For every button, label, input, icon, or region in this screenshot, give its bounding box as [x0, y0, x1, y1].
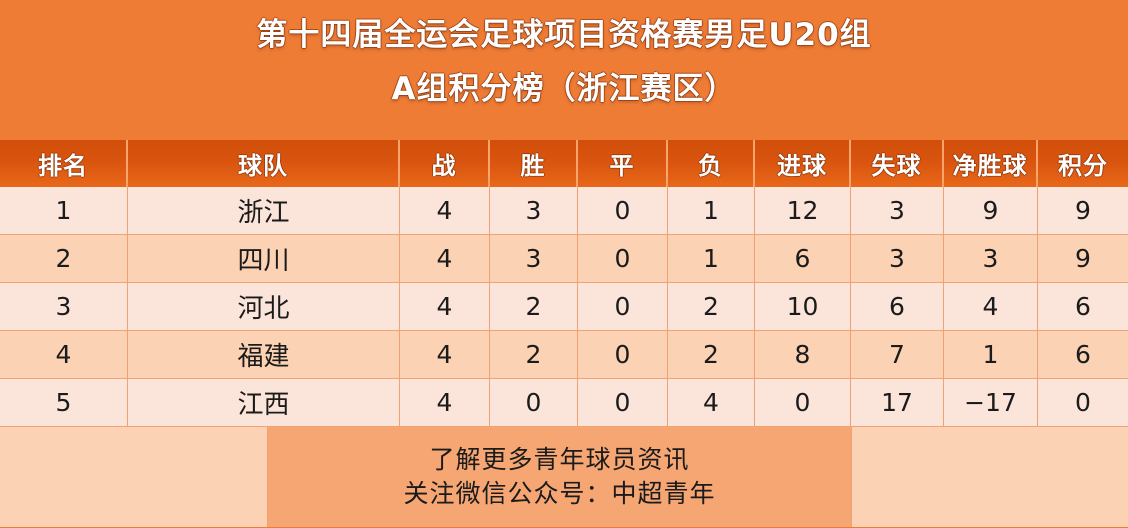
promo-line-1: 了解更多青年球员资讯 [429, 443, 689, 477]
cell-played: 4 [400, 331, 490, 379]
standings-table: 排名 球队 战 胜 平 负 进球 失球 净胜球 积分 1 浙江 4 3 0 1 … [0, 140, 1128, 528]
cell-goals-for: 0 [755, 379, 851, 427]
cell-draw: 0 [578, 283, 668, 331]
column-header-rank: 排名 [0, 140, 128, 187]
title-banner: 第十四届全运会足球项目资格赛男足U20组 A组积分榜（浙江赛区） [0, 0, 1128, 140]
cell-goal-diff: −17 [944, 379, 1038, 427]
cell-points: 6 [1038, 331, 1128, 379]
cell-points: 0 [1038, 379, 1128, 427]
cell-rank: 5 [0, 379, 128, 427]
cell-goals-against: 17 [851, 379, 944, 427]
cell-goal-diff: 3 [944, 235, 1038, 283]
cell-win: 3 [490, 187, 578, 235]
column-header-goal-diff: 净胜球 [944, 140, 1038, 187]
cell-draw: 0 [578, 235, 668, 283]
cell-played: 4 [400, 187, 490, 235]
cell-points: 9 [1038, 235, 1128, 283]
cell-points: 9 [1038, 187, 1128, 235]
cell-draw: 0 [578, 379, 668, 427]
cell-goals-for: 12 [755, 187, 851, 235]
cell-played: 4 [400, 379, 490, 427]
table-row: 4 福建 4 2 0 2 8 7 1 6 [0, 331, 1128, 379]
cell-rank: 4 [0, 331, 128, 379]
cell-team: 四川 [128, 235, 400, 283]
promo-line-2: 关注微信公众号：中超青年 [403, 477, 715, 511]
cell-draw: 0 [578, 331, 668, 379]
cell-goals-for: 6 [755, 235, 851, 283]
cell-played: 4 [400, 235, 490, 283]
cell-goal-diff: 1 [944, 331, 1038, 379]
cell-played: 4 [400, 283, 490, 331]
promo-banner: 了解更多青年球员资讯 关注微信公众号：中超青年 [268, 427, 851, 527]
cell-draw: 0 [578, 187, 668, 235]
standings-graphic: 第十四届全运会足球项目资格赛男足U20组 A组积分榜（浙江赛区） 排名 球队 战… [0, 0, 1128, 528]
cell-rank: 3 [0, 283, 128, 331]
footer-row: 了解更多青年球员资讯 关注微信公众号：中超青年 [0, 427, 1128, 527]
cell-loss: 2 [668, 331, 755, 379]
page-title-line-1: 第十四届全运会足球项目资格赛男足U20组 [256, 20, 871, 51]
cell-team: 河北 [128, 283, 400, 331]
cell-goals-for: 10 [755, 283, 851, 331]
table-header-row: 排名 球队 战 胜 平 负 进球 失球 净胜球 积分 [0, 140, 1128, 187]
table-row: 3 河北 4 2 0 2 10 6 4 6 [0, 283, 1128, 331]
column-header-loss: 负 [668, 140, 755, 187]
cell-loss: 4 [668, 379, 755, 427]
cell-team: 江西 [128, 379, 400, 427]
table-row: 1 浙江 4 3 0 1 12 3 9 9 [0, 187, 1128, 235]
cell-win: 2 [490, 331, 578, 379]
cell-loss: 1 [668, 187, 755, 235]
footer-right-spacer [851, 427, 1128, 527]
page-title-line-2: A组积分榜（浙江赛区） [392, 74, 737, 105]
column-header-played: 战 [400, 140, 490, 187]
column-header-win: 胜 [490, 140, 578, 187]
cell-team: 浙江 [128, 187, 400, 235]
column-header-draw: 平 [578, 140, 668, 187]
cell-win: 3 [490, 235, 578, 283]
cell-points: 6 [1038, 283, 1128, 331]
table-row: 5 江西 4 0 0 4 0 17 −17 0 [0, 379, 1128, 427]
cell-rank: 2 [0, 235, 128, 283]
cell-win: 0 [490, 379, 578, 427]
column-header-team: 球队 [128, 140, 400, 187]
footer-left-spacer [0, 427, 268, 527]
column-header-goals-against: 失球 [851, 140, 944, 187]
cell-team: 福建 [128, 331, 400, 379]
cell-goals-against: 3 [851, 187, 944, 235]
cell-goal-diff: 4 [944, 283, 1038, 331]
cell-goals-for: 8 [755, 331, 851, 379]
table-row: 2 四川 4 3 0 1 6 3 3 9 [0, 235, 1128, 283]
cell-goals-against: 6 [851, 283, 944, 331]
cell-goal-diff: 9 [944, 187, 1038, 235]
cell-goals-against: 3 [851, 235, 944, 283]
column-header-points: 积分 [1038, 140, 1128, 187]
cell-loss: 1 [668, 235, 755, 283]
cell-rank: 1 [0, 187, 128, 235]
cell-win: 2 [490, 283, 578, 331]
column-header-goals-for: 进球 [755, 140, 851, 187]
cell-loss: 2 [668, 283, 755, 331]
cell-goals-against: 7 [851, 331, 944, 379]
